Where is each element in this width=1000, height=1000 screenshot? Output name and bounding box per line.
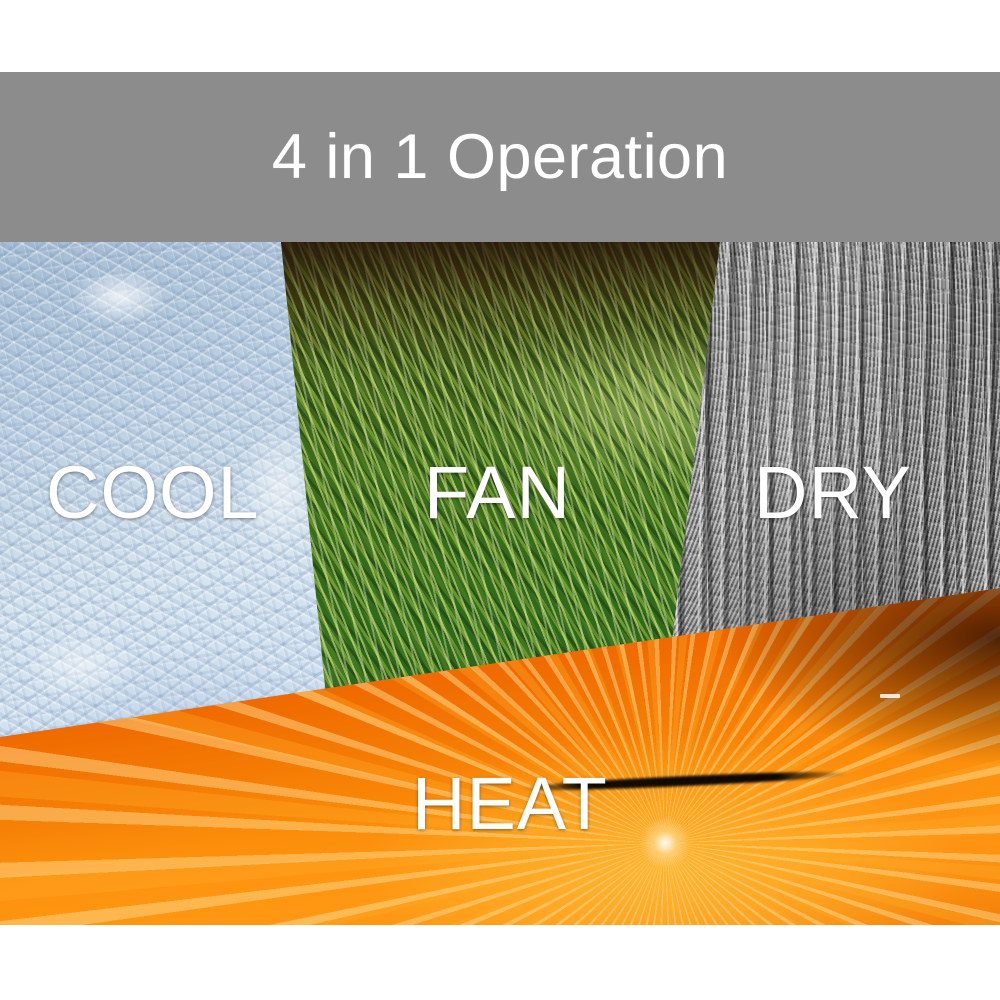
mode-label-fan: FAN <box>424 456 571 530</box>
mode-collage: COOL FAN DRY HEAT <box>0 242 1000 925</box>
flare-highlight-mark <box>880 694 900 698</box>
mode-label-cool: COOL <box>46 456 260 530</box>
mode-label-heat: HEAT <box>412 767 608 841</box>
mode-label-dry: DRY <box>754 456 912 530</box>
product-feature-graphic: 4 in 1 Operation COOL FAN DRY HEAT <box>0 0 1000 1000</box>
title-banner: 4 in 1 Operation <box>0 72 1000 242</box>
page-title: 4 in 1 Operation <box>272 126 728 189</box>
